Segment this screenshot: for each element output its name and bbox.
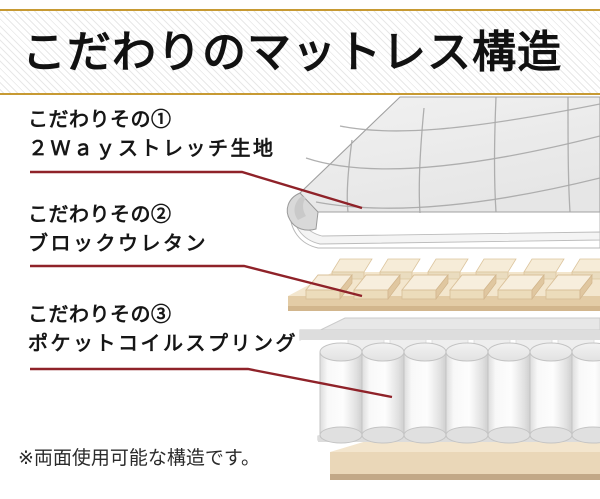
layer-block-urethane-bottom — [330, 440, 600, 480]
callout-label-2: こだわりその② ブロックウレタン — [28, 201, 208, 259]
layer-block-urethane-top — [288, 259, 600, 311]
layer-pocket-coil-springs — [320, 336, 600, 443]
callout-label-3: こだわりその③ ポケットコイルスプリング — [28, 301, 298, 359]
callout-1-index: こだわりその① — [28, 106, 276, 135]
title-band: こだわりのマットレス構造 — [0, 9, 600, 95]
callout-2-name: ブロックウレタン — [28, 230, 208, 259]
layer-upper-support-plate — [300, 318, 600, 340]
callout-3-index: こだわりその③ — [28, 301, 298, 330]
callout-label-1: こだわりその① ２Ｗａｙストレッチ生地 — [28, 106, 276, 164]
callout-1-name: ２Ｗａｙストレッチ生地 — [28, 135, 276, 164]
page-title: こだわりのマットレス構造 — [22, 14, 562, 92]
mattress-structure-infographic: こだわりのマットレス構造 こだわりその① ２Ｗａｙストレッチ生地 こだわりその②… — [0, 0, 600, 499]
footnote-note: ※両面使用可能な構造です。 — [18, 446, 260, 472]
callout-2-index: こだわりその② — [28, 201, 208, 230]
callout-3-name: ポケットコイルスプリング — [28, 330, 298, 359]
layer-quilted-stretch-cover — [287, 97, 600, 248]
